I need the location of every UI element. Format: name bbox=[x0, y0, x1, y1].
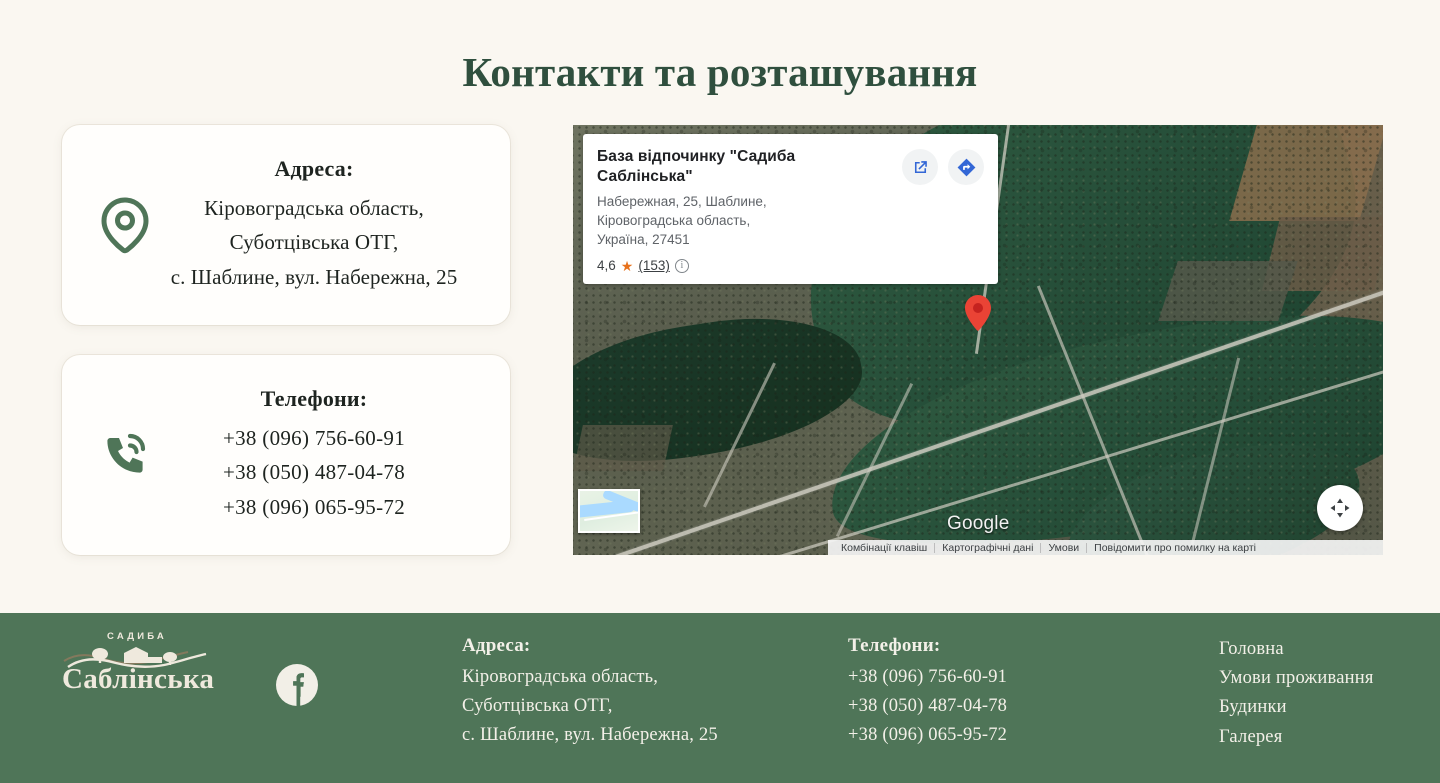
attribution-link[interactable]: Умови bbox=[1041, 542, 1086, 554]
footer-address-line: Суботцівська ОТГ, bbox=[462, 692, 718, 721]
review-count[interactable]: (153) bbox=[638, 258, 670, 273]
google-logo: Google bbox=[947, 513, 1009, 535]
footer-nav-link-houses[interactable]: Будинки bbox=[1219, 693, 1374, 722]
footer-phone-number[interactable]: +38 (096) 065-95-72 bbox=[848, 721, 1007, 750]
phone-number[interactable]: +38 (096) 065-95-72 bbox=[162, 490, 466, 524]
map-place-rating: 4,6 ★ (153) i bbox=[597, 258, 984, 273]
footer-phones-heading: Телефони: bbox=[848, 635, 1007, 657]
page-title: Контакти та розташування bbox=[0, 0, 1440, 93]
info-circle-icon[interactable]: i bbox=[675, 259, 689, 273]
address-card: Адреса: Кіровоградська область, Суботців… bbox=[62, 125, 510, 325]
address-card-body: Адреса: Кіровоградська область, Суботців… bbox=[162, 156, 484, 293]
footer-nav: Головна Умови проживання Будинки Галерея bbox=[1219, 635, 1374, 752]
address-card-heading: Адреса: bbox=[162, 156, 466, 182]
footer-nav-link-conditions[interactable]: Умови проживання bbox=[1219, 664, 1374, 693]
info-cards-column: Адреса: Кіровоградська область, Суботців… bbox=[62, 125, 510, 555]
attribution-link[interactable]: Повідомити про помилку на карті bbox=[1087, 542, 1263, 554]
pan-arrows-icon[interactable] bbox=[1317, 485, 1363, 531]
location-pin-icon bbox=[88, 195, 162, 255]
site-footer: САДИБА Саблінська bbox=[0, 613, 1440, 783]
phone-number[interactable]: +38 (096) 756-60-91 bbox=[162, 421, 466, 455]
map-place-title: База відпочинку "Садиба Саблінська" bbox=[597, 147, 892, 188]
phones-card-body: Телефони: +38 (096) 756-60-91 +38 (050) … bbox=[162, 386, 484, 524]
map-type-thumbnail[interactable] bbox=[578, 489, 640, 533]
logo-top-text: САДИБА bbox=[62, 631, 212, 642]
map-address-line: Кіровоградська область, bbox=[597, 211, 892, 230]
phone-ring-icon bbox=[88, 427, 162, 483]
logo-name: Саблінська bbox=[62, 665, 212, 694]
footer-address-line: Кіровоградська область, bbox=[462, 663, 718, 692]
address-line: с. Шаблине, вул. Набережна, 25 bbox=[162, 260, 466, 294]
footer-phone-number[interactable]: +38 (050) 487-04-78 bbox=[848, 692, 1007, 721]
map-attribution-bar: Комбінації клавіш Картографічні дані Умо… bbox=[828, 540, 1383, 555]
phones-card-heading: Телефони: bbox=[162, 386, 466, 412]
footer-phones-column: Телефони: +38 (096) 756-60-91 +38 (050) … bbox=[848, 635, 1007, 751]
map-embed[interactable]: База відпочинку "Садиба Саблінська" Набе… bbox=[573, 125, 1383, 555]
facebook-icon[interactable] bbox=[275, 663, 319, 712]
address-line: Суботцівська ОТГ, bbox=[162, 225, 466, 259]
star-icon: ★ bbox=[621, 259, 634, 273]
contacts-content: Адреса: Кіровоградська область, Суботців… bbox=[0, 125, 1440, 565]
attribution-link[interactable]: Комбінації клавіш bbox=[834, 542, 934, 554]
open-in-new-icon[interactable] bbox=[902, 149, 938, 185]
footer-phone-number[interactable]: +38 (096) 756-60-91 bbox=[848, 663, 1007, 692]
footer-address-line: с. Шаблине, вул. Набережна, 25 bbox=[462, 721, 718, 750]
address-line: Кіровоградська область, bbox=[162, 191, 466, 225]
map-address-line: Україна, 27451 bbox=[597, 230, 892, 249]
map-place-address: Набережная, 25, Шаблине, Кіровоградська … bbox=[597, 192, 892, 249]
phone-number[interactable]: +38 (050) 487-04-78 bbox=[162, 455, 466, 489]
footer-address-heading: Адреса: bbox=[462, 635, 718, 657]
map-marker-icon[interactable] bbox=[965, 295, 991, 321]
map-place-text: База відпочинку "Садиба Саблінська" Набе… bbox=[597, 147, 892, 249]
map-place-card-top: База відпочинку "Садиба Саблінська" Набе… bbox=[597, 147, 984, 249]
footer-nav-link-gallery[interactable]: Галерея bbox=[1219, 723, 1374, 752]
footer-logo[interactable]: САДИБА Саблінська bbox=[62, 631, 212, 694]
directions-icon[interactable] bbox=[948, 149, 984, 185]
map-address-line: Набережная, 25, Шаблине, bbox=[597, 192, 892, 211]
phones-card: Телефони: +38 (096) 756-60-91 +38 (050) … bbox=[62, 355, 510, 555]
footer-inner: САДИБА Саблінська bbox=[0, 613, 1440, 783]
footer-nav-link-home[interactable]: Головна bbox=[1219, 635, 1374, 664]
footer-address-column: Адреса: Кіровоградська область, Суботців… bbox=[462, 635, 718, 751]
rating-value: 4,6 bbox=[597, 258, 616, 273]
attribution-link[interactable]: Картографічні дані bbox=[935, 542, 1040, 554]
map-place-card[interactable]: База відпочинку "Садиба Саблінська" Набе… bbox=[583, 134, 998, 284]
map-place-actions bbox=[902, 147, 984, 185]
